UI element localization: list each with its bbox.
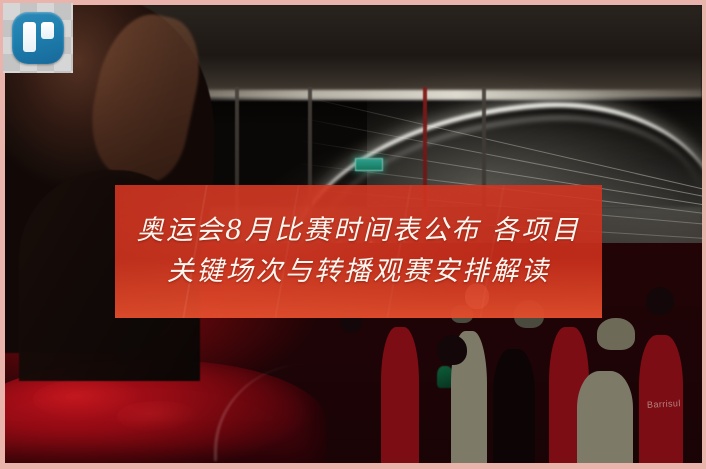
headline-banner: 奥运会8月比赛时间表公布 各项目 关键场次与转播观赛安排解读	[115, 185, 602, 318]
trello-bar-short-icon	[41, 22, 54, 39]
crowd-torso	[577, 371, 633, 463]
drum-highlight	[117, 401, 201, 432]
headline-text-block: 奥运会8月比赛时间表公布 各项目 关键场次与转播观赛安排解读	[115, 185, 602, 318]
crowd-head	[437, 335, 467, 365]
background-photo: Barrisul 奥运会8月比赛时间表公布 各项目 关键场次与转播观赛安排解读	[5, 5, 702, 463]
trello-logo-tile	[12, 12, 64, 64]
headline-line-2: 关键场次与转播观赛安排解读	[167, 255, 551, 289]
crowd-head	[646, 287, 674, 315]
crowd-torso	[493, 349, 535, 463]
crowd-head-hood	[597, 318, 635, 350]
crowd-jersey-text: Barrisul	[647, 398, 681, 410]
headline-line-1: 奥运会8月比赛时间表公布 各项目	[137, 214, 581, 248]
stadium-scoreboard	[355, 158, 383, 171]
trello-bar-tall-icon	[23, 22, 36, 52]
screenshot-root: Barrisul 奥运会8月比赛时间表公布 各项目 关键场次与转播观赛安排解读	[0, 0, 706, 469]
crowd-torso	[381, 327, 419, 463]
trello-app-icon[interactable]	[3, 3, 73, 73]
